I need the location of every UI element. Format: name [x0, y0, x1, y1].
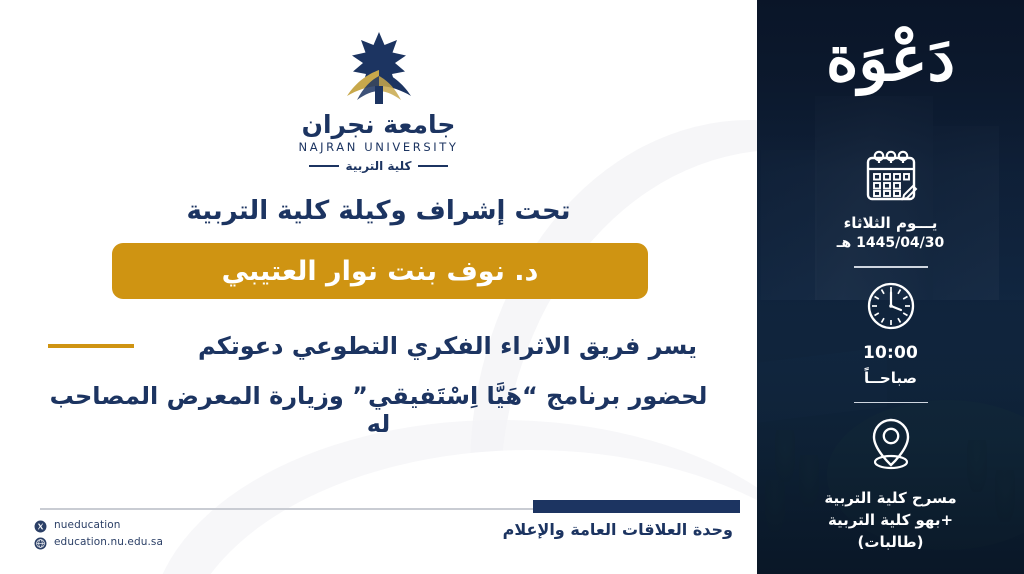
- panel-divider-1: [854, 266, 928, 268]
- contact-row-website[interactable]: education.nu.edu.sa: [34, 535, 163, 548]
- calendar-icon: [863, 150, 919, 208]
- invitation-poster: جامعة نجران NAJRAN UNIVERSITY كلية الترب…: [0, 0, 1024, 574]
- event-location-line-2: +بهو كلية التربية: [824, 511, 956, 529]
- clock-icon: [866, 281, 916, 335]
- background-swoosh-bottom: [150, 420, 757, 574]
- university-logo: جامعة نجران NAJRAN UNIVERSITY كلية الترب…: [0, 30, 757, 173]
- body-line-1-row: يسر فريق الاثراء الفكري التطوعي دعوتكم: [48, 332, 727, 360]
- contact-website-url: education.nu.edu.sa: [54, 536, 163, 548]
- footer-accent-bar: [533, 500, 740, 513]
- map-pin-icon: [865, 416, 917, 478]
- logo-arabic-name: جامعة نجران: [302, 110, 456, 139]
- event-day-text: يـــوم الثلاثاء: [844, 214, 938, 232]
- logo-english-name: NAJRAN UNIVERSITY: [299, 140, 459, 154]
- event-location-line-3: (طالبات): [824, 533, 956, 551]
- footer-contacts: nueducation education.nu.edu.sa: [34, 518, 163, 548]
- gold-divider-dash: [48, 344, 134, 348]
- details-panel: دَعْوَة: [757, 0, 1024, 574]
- event-details-stack: يـــوم الثلاثاء 1445/04/30 هـ: [757, 150, 1024, 551]
- supervisor-name-banner: د. نوف بنت نوار العتيبي: [112, 243, 648, 299]
- panel-divider-2: [854, 402, 928, 404]
- logo-rule-left: [309, 165, 339, 167]
- logo-college-row: كلية التربية: [309, 159, 449, 173]
- event-hijri-date-text: 1445/04/30 هـ: [837, 235, 945, 251]
- contact-row-social[interactable]: nueducation: [34, 518, 163, 531]
- supervisor-name-text: د. نوف بنت نوار العتيبي: [222, 256, 539, 287]
- star-book-logo-icon: [311, 30, 447, 108]
- footer-unit-text: وحدة العلاقات العامة والإعلام: [313, 520, 733, 539]
- supervisor-prefix-text: تحت إشراف وكيلة كلية التربية: [0, 196, 757, 226]
- logo-rule-right: [418, 165, 448, 167]
- globe-website-icon: [34, 535, 47, 548]
- contact-social-handle: nueducation: [54, 519, 121, 531]
- logo-college-name: كلية التربية: [346, 159, 412, 173]
- event-time-period: صباحــاً: [864, 369, 917, 387]
- event-location-lines: مسرح كلية التربية +بهو كلية التربية (طال…: [824, 485, 956, 551]
- left-content-pane: جامعة نجران NAJRAN UNIVERSITY كلية الترب…: [0, 0, 757, 574]
- body-line-2-text: لحضور برنامج “هَيَّا اِسْتَفيقي” وزيارة …: [48, 382, 709, 438]
- x-twitter-icon: [34, 518, 47, 531]
- event-location-line-1: مسرح كلية التربية: [824, 489, 956, 507]
- event-time-value: 10:00: [863, 343, 918, 363]
- body-line-1-text: يسر فريق الاثراء الفكري التطوعي دعوتكم: [134, 332, 727, 360]
- panel-title-calligraphy: دَعْوَة: [757, 22, 1024, 95]
